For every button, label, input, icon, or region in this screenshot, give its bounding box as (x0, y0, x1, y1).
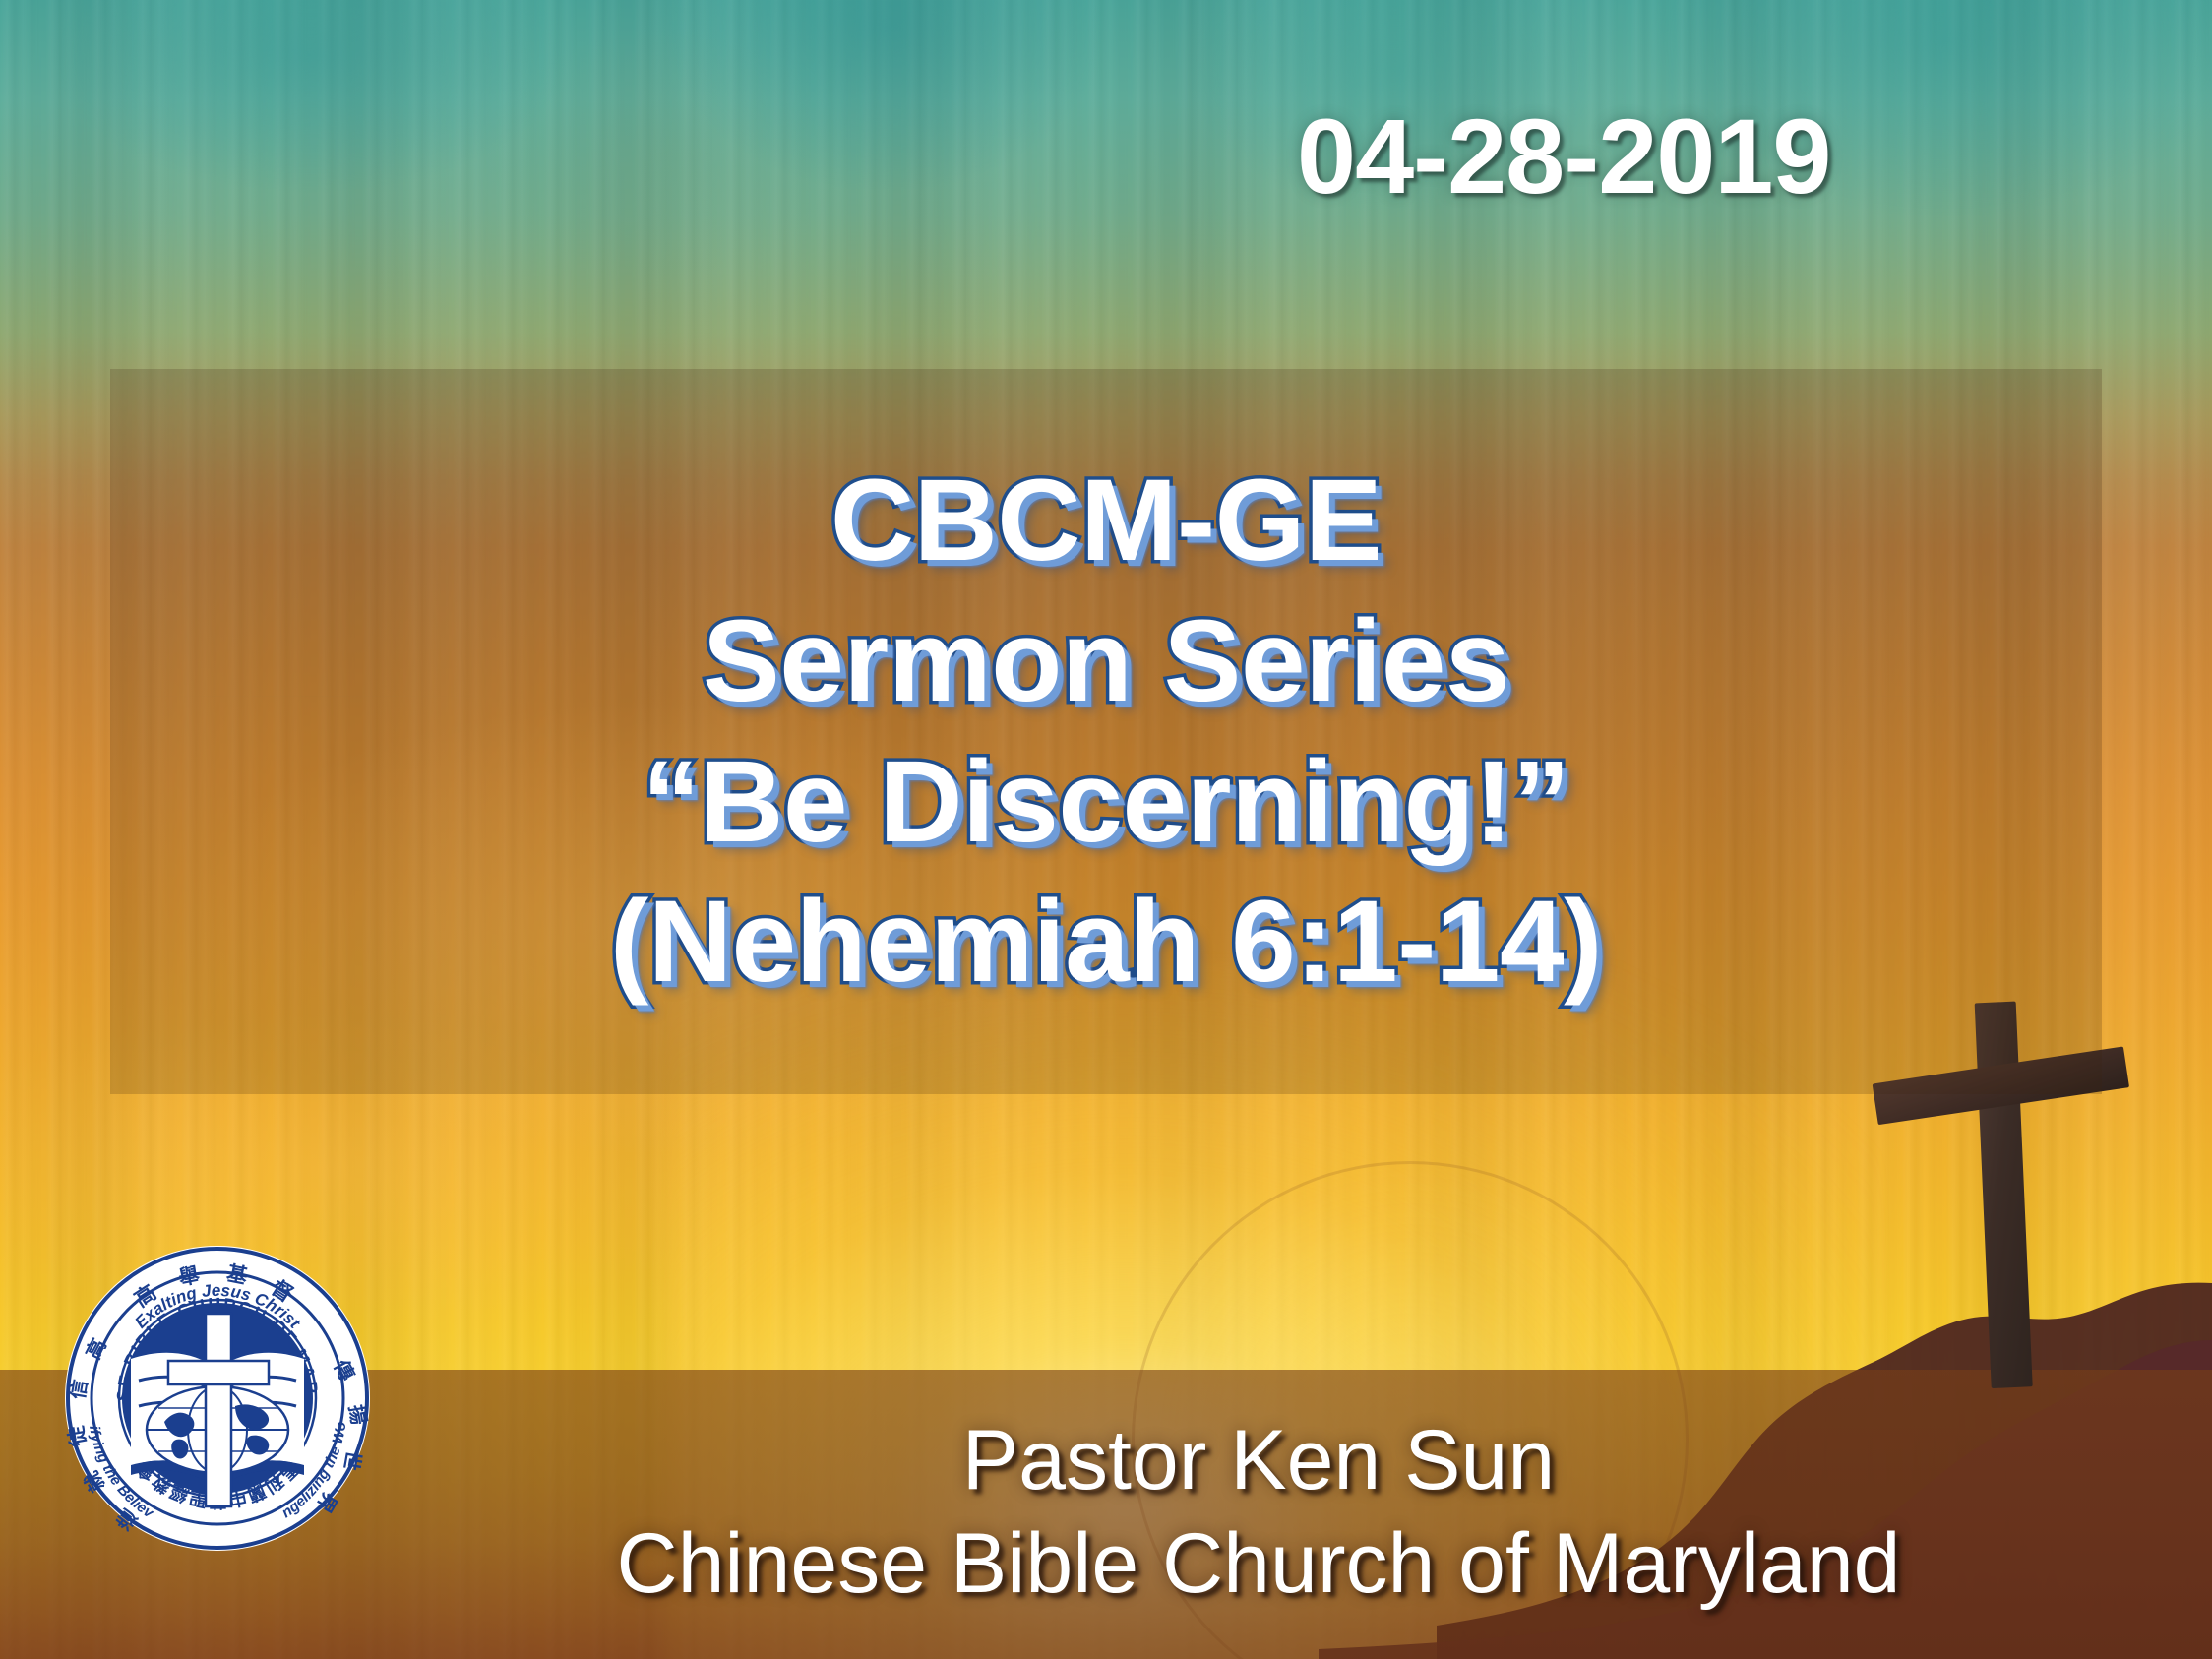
title-line-scripture-reference: (Nehemiah 6:1-14) (610, 875, 1602, 1010)
title-line-sermon-title: “Be Discerning!” (643, 735, 1570, 870)
slide-date: 04-28-2019 (1297, 103, 1830, 210)
title-line-series-name: CBCM-GE (830, 454, 1382, 588)
sermon-title-slide: 04-28-2019 CBCM-GE Sermon Series “Be Dis… (0, 0, 2212, 1659)
svg-text:世: 世 (339, 1448, 366, 1472)
title-block: CBCM-GE Sermon Series “Be Discerning!” (… (110, 369, 2102, 1094)
footer-speaker-name: Pastor Ken Sun (423, 1409, 2094, 1512)
footer-church-name: Chinese Bible Church of Maryland (423, 1512, 2094, 1616)
church-logo: 高 舉 基 督 Exalting Jesus Christ CHINESE BI… (62, 1243, 373, 1554)
svg-text:信: 信 (65, 1378, 92, 1401)
svg-text:揚: 揚 (344, 1403, 371, 1427)
svg-text:徒: 徒 (64, 1423, 91, 1448)
title-line-series-label: Sermon Series (703, 594, 1509, 729)
footer-block: Pastor Ken Sun Chinese Bible Church of M… (423, 1409, 2094, 1616)
